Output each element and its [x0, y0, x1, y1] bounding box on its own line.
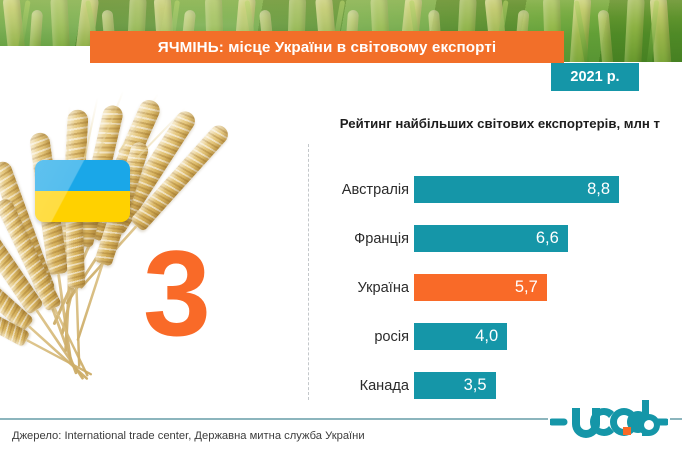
infographic-page: ЯЧМІНЬ: місце України в світовому експор… — [0, 0, 682, 454]
chart-bar-value: 4,0 — [475, 328, 498, 345]
chart-bar-value: 3,5 — [464, 377, 487, 394]
chart-category-label: росія — [300, 329, 414, 345]
ucab-logo[interactable] — [548, 398, 670, 446]
chart-bar: 5,7 — [414, 274, 547, 301]
chart-bar: 3,5 — [414, 372, 496, 399]
chart-row: Україна5,7 — [300, 263, 682, 312]
wheat-illustration-area: 3 місце — [0, 62, 300, 395]
flag-gloss — [35, 160, 130, 222]
chart-bar-value: 6,6 — [536, 230, 559, 247]
chart-category-label: Австралія — [300, 182, 414, 198]
chart-bar-track: 3,5 — [414, 372, 682, 399]
chart-bar: 4,0 — [414, 323, 507, 350]
source-note: Джерело: International trade center, Дер… — [12, 430, 365, 442]
ukraine-flag-icon — [35, 160, 130, 222]
chart-category-label: Україна — [300, 280, 414, 296]
chart-bar: 6,6 — [414, 225, 568, 252]
page-title: ЯЧМІНЬ: місце України в світовому експор… — [158, 39, 496, 56]
chart-bar: 8,8 — [414, 176, 619, 203]
rank-number: 3 — [143, 243, 209, 343]
chart-category-label: Франція — [300, 231, 414, 247]
chart-rows: Австралія8,8Франція6,6Україна5,7росія4,0… — [300, 165, 682, 410]
ucab-logo-accent-square — [623, 427, 631, 435]
chart-bar-track: 4,0 — [414, 323, 682, 350]
year-badge-label: 2021 р. — [570, 69, 619, 85]
chart-bar-value: 8,8 — [587, 181, 610, 198]
chart-bar-value: 5,7 — [515, 279, 538, 296]
main-title-bar: ЯЧМІНЬ: місце України в світовому експор… — [90, 31, 564, 63]
chart-row: Австралія8,8 — [300, 165, 682, 214]
chart-category-label: Канада — [300, 378, 414, 394]
chart-bar-track: 8,8 — [414, 176, 682, 203]
chart-title: Рейтинг найбільших світових експортерів,… — [312, 116, 660, 133]
ucab-logo-mark — [550, 400, 668, 444]
chart-row: Франція6,6 — [300, 214, 682, 263]
chart-row: росія4,0 — [300, 312, 682, 361]
exporters-bar-chart: Рейтинг найбільших світових експортерів,… — [300, 108, 682, 400]
chart-bar-track: 5,7 — [414, 274, 682, 301]
year-badge: 2021 р. — [551, 63, 639, 91]
chart-bar-track: 6,6 — [414, 225, 682, 252]
